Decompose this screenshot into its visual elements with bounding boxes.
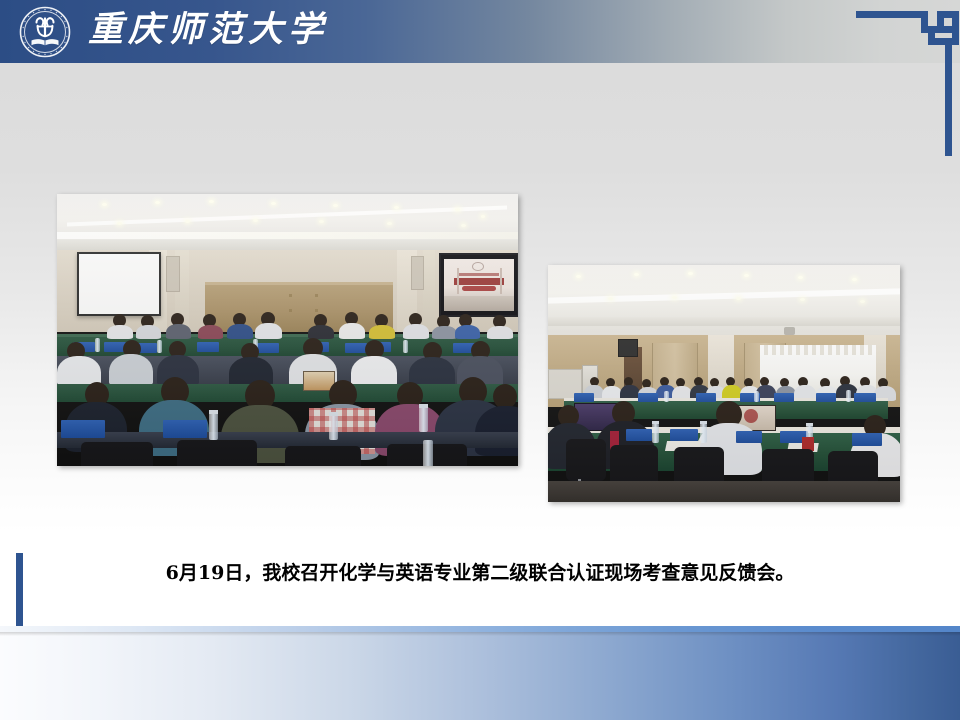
photo-meeting-room-roundtable: [548, 265, 900, 502]
photo-caption-row: 6月19日，我校召开化学与英语专业第二级联合认证现场考查意见反馈会。: [0, 556, 960, 590]
university-seal-icon: [19, 6, 71, 58]
footer-band: [0, 632, 960, 720]
footer-band-shadow: [0, 632, 960, 636]
presentation-slide: 重庆师范大学: [0, 0, 960, 720]
photo-conference-hall-audience: [57, 194, 518, 466]
slide-header-band: 重庆师范大学: [0, 0, 960, 63]
chinese-corner-ornament-icon: [850, 0, 960, 160]
photo-caption: 6月19日，我校召开化学与英语专业第二级联合认证现场考查意见反馈会。: [166, 556, 795, 590]
university-name-title: 重庆师范大学: [88, 4, 328, 56]
